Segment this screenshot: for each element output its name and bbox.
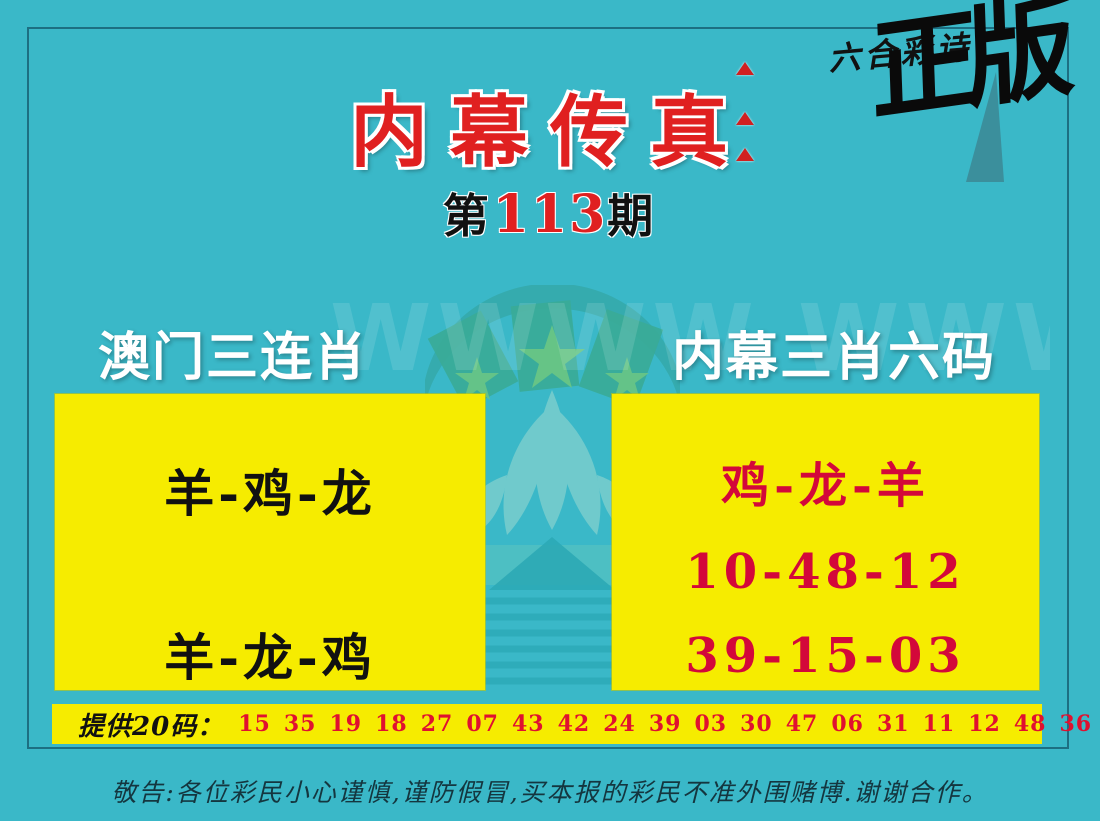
code-number: 48: [1014, 711, 1047, 737]
code-number: 43: [512, 711, 545, 737]
code-number: 12: [968, 711, 1001, 737]
code-number: 07: [466, 711, 499, 737]
twenty-codes-list: 1535191827074342243903304706311112483623: [238, 711, 1100, 737]
twenty-codes-strip: 提供20码： 153519182707434224390330470631111…: [52, 704, 1042, 744]
prediction-line: 鸡-龙-羊: [612, 446, 1039, 516]
twenty-codes-label: 提供20码：: [78, 706, 224, 743]
issue-prefix: 第: [443, 189, 493, 243]
lottery-poster: WWWW WWWW WWWW WWWW WWWW WWWW 六合彩诗 正版 内幕…: [0, 0, 1100, 821]
prediction-line: 39-15-03: [612, 628, 1039, 684]
code-number: 15: [238, 711, 271, 737]
code-number: 06: [831, 711, 864, 737]
issue-label: 第113期: [0, 180, 1100, 246]
code-number: 47: [786, 711, 819, 737]
code-number: 11: [923, 711, 956, 737]
code-number: 18: [375, 711, 408, 737]
issue-number: 113: [493, 184, 608, 245]
code-number: 27: [421, 711, 454, 737]
issue-suffix: 期: [607, 189, 657, 243]
column-heading-left: 澳门三连肖: [98, 315, 368, 390]
prediction-line: 10-48-12: [612, 544, 1039, 600]
page-title: 内幕传真: [0, 70, 1100, 182]
code-number: 03: [694, 711, 727, 737]
prediction-panel-right: 鸡-龙-羊 10-48-12 39-15-03: [612, 394, 1039, 690]
code-number: 24: [603, 711, 636, 737]
footer-notice: 敬告:各位彩民小心谨慎,谨防假冒,买本报的彩民不准外围赌博.谢谢合作。: [0, 773, 1100, 809]
prediction-line: 羊-龙-鸡: [55, 618, 485, 690]
column-heading-right: 内幕三肖六码: [672, 315, 996, 390]
code-number: 35: [284, 711, 317, 737]
code-number: 31: [877, 711, 910, 737]
code-number: 36: [1059, 711, 1092, 737]
code-number: 19: [329, 711, 362, 737]
code-number: 30: [740, 711, 773, 737]
code-number: 42: [558, 711, 591, 737]
prediction-panel-left: 羊-鸡-龙 羊-龙-鸡: [55, 394, 485, 690]
prediction-line: 羊-鸡-龙: [55, 454, 485, 526]
code-number: 39: [649, 711, 682, 737]
